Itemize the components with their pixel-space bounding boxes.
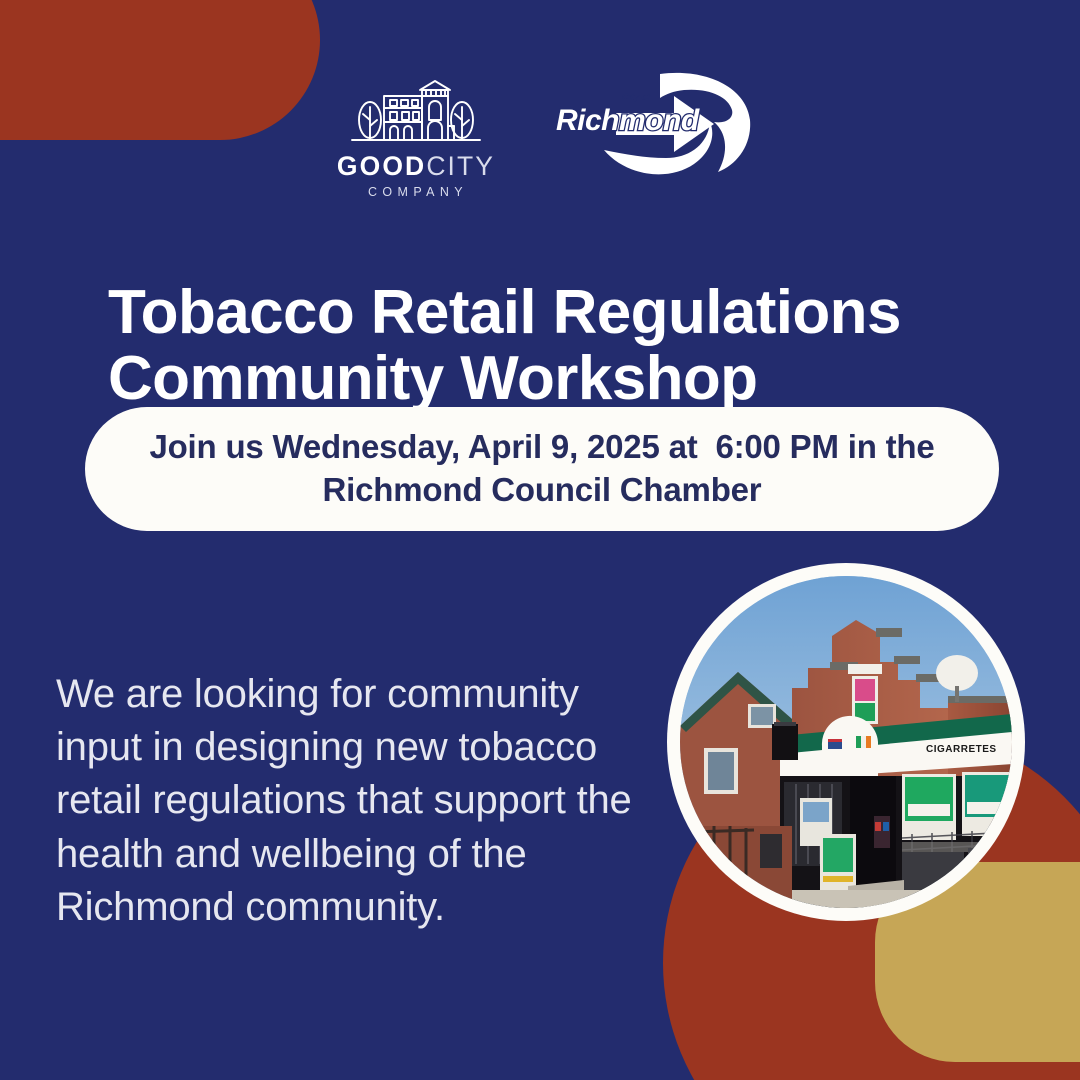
good-city-wordmark: GOODCITY [337,153,495,180]
headline-line-1: Tobacco Retail Regulations [108,278,901,347]
storefront-photo: CIGARRETES [680,576,1012,908]
logo-row: GOODCITY COMPANY City of Richmond [0,72,1080,197]
cigarettes-sign-text: CIGARRETES [926,744,997,755]
svg-text:Richmond: Richmond [556,104,700,137]
page-title: Tobacco Retail Regulations Community Wor… [108,280,988,413]
event-details-banner: Join us Wednesday, April 9, 2025 at 6:00… [85,407,999,531]
wordmark-good: GOOD [337,151,426,181]
event-details-text: Join us Wednesday, April 9, 2025 at 6:00… [121,426,963,512]
civic-building-with-trees-icon [346,76,486,146]
richmond-swoosh-arrow-icon: City of Richmond [542,72,752,180]
svg-text:City of: City of [622,92,651,102]
headline-line-2: Community Workshop [108,344,757,413]
wordmark-city: CITY [426,151,495,181]
storefront-photo-frame: CIGARRETES [667,563,1025,921]
body-paragraph: We are looking for community input in de… [56,668,666,934]
wordmark-company: COMPANY [364,186,468,199]
poster-canvas: GOODCITY COMPANY City of Richmond Tobacc… [0,0,1080,1080]
storefront-illustration: CIGARRETES [680,576,1012,908]
logo-good-city-company: GOODCITY COMPANY [329,72,504,198]
logo-city-of-richmond: City of Richmond [542,72,752,180]
